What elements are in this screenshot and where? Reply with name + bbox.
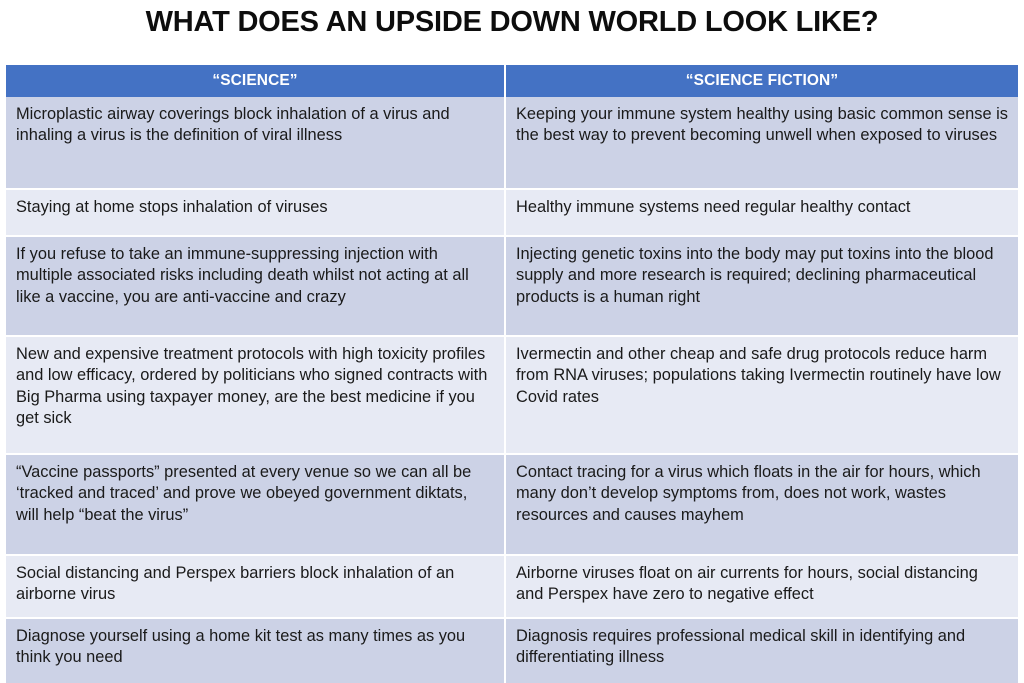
cell-science: If you refuse to take an immune-suppress…	[6, 237, 506, 337]
table-header: “SCIENCE” “SCIENCE FICTION”	[6, 65, 1018, 97]
cell-science-fiction: Contact tracing for a virus which floats…	[506, 455, 1018, 556]
table-row: “Vaccine passports” presented at every v…	[6, 455, 1018, 556]
cell-science-fiction: Airborne viruses float on air currents f…	[506, 556, 1018, 619]
cell-science: “Vaccine passports” presented at every v…	[6, 455, 506, 556]
column-header-science: “SCIENCE”	[6, 65, 506, 97]
table-row: Staying at home stops inhalation of viru…	[6, 190, 1018, 237]
cell-science: Social distancing and Perspex barriers b…	[6, 556, 506, 619]
table-row: Social distancing and Perspex barriers b…	[6, 556, 1018, 619]
cell-science: New and expensive treatment protocols wi…	[6, 337, 506, 455]
table-body: Microplastic airway coverings block inha…	[6, 97, 1018, 683]
cell-science-fiction: Diagnosis requires professional medical …	[506, 619, 1018, 683]
cell-science-fiction: Ivermectin and other cheap and safe drug…	[506, 337, 1018, 455]
table-header-row: “SCIENCE” “SCIENCE FICTION”	[6, 65, 1018, 97]
page-title: WHAT DOES AN UPSIDE DOWN WORLD LOOK LIKE…	[0, 6, 1024, 39]
table-row: Diagnose yourself using a home kit test …	[6, 619, 1018, 683]
cell-science-fiction: Injecting genetic toxins into the body m…	[506, 237, 1018, 337]
table-row: Microplastic airway coverings block inha…	[6, 97, 1018, 190]
cell-science: Diagnose yourself using a home kit test …	[6, 619, 506, 683]
table-row: New and expensive treatment protocols wi…	[6, 337, 1018, 455]
cell-science-fiction: Keeping your immune system healthy using…	[506, 97, 1018, 190]
comparison-table: “SCIENCE” “SCIENCE FICTION” Microplastic…	[6, 65, 1018, 683]
table-row: If you refuse to take an immune-suppress…	[6, 237, 1018, 337]
cell-science: Staying at home stops inhalation of viru…	[6, 190, 506, 237]
cell-science-fiction: Healthy immune systems need regular heal…	[506, 190, 1018, 237]
cell-science: Microplastic airway coverings block inha…	[6, 97, 506, 190]
slide-page: WHAT DOES AN UPSIDE DOWN WORLD LOOK LIKE…	[0, 0, 1024, 628]
column-header-science-fiction: “SCIENCE FICTION”	[506, 65, 1018, 97]
